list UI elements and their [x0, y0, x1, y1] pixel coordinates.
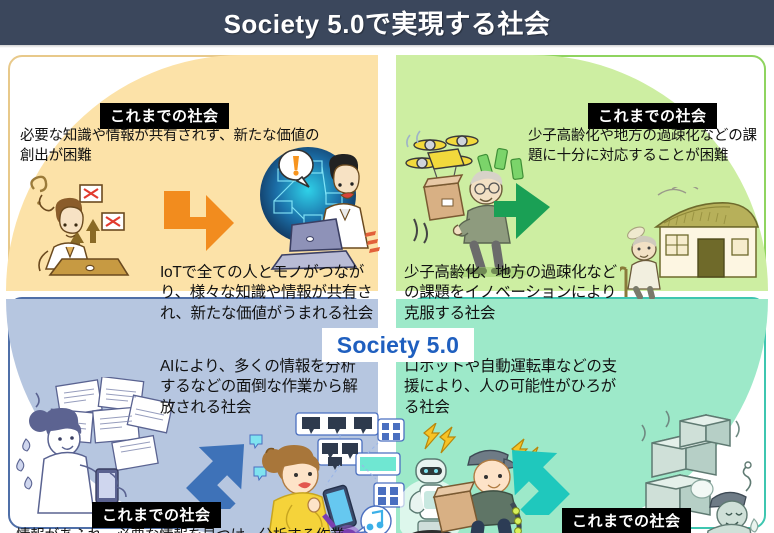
page-title: Society 5.0で実現する社会	[224, 4, 551, 41]
past-society-badge-top-left: これまでの社会	[100, 103, 229, 129]
transition-arrow-up-left-teal	[498, 439, 574, 515]
past-society-badge-bottom-right: これまでの社会	[562, 508, 691, 533]
woman-with-ai-assistant-smartphone-illustration: AI	[248, 409, 408, 533]
elderly-man-at-thatched-house-illustration	[620, 187, 762, 299]
past-society-badge-bottom-left: これまでの社会	[92, 502, 221, 528]
past-society-badge-top-right: これまでの社会	[588, 103, 717, 129]
overwhelmed-woman-with-documents-illustration	[14, 377, 184, 517]
page-title-bar: Society 5.0で実現する社会	[0, 0, 774, 45]
future-society-text-top-right: 少子高齢化、地方の過疎化などの課題をイノベーションにより克服する社会	[404, 263, 626, 324]
transition-arrow-up-right-blue	[182, 433, 258, 509]
transition-arrow-down-right-orange	[160, 177, 238, 255]
future-society-text-bottom-right: ロボットや自動運転車などの支援により、人の可能性がひろがる社会	[404, 357, 620, 418]
past-society-text-bottom-left: 情報があふれ、必要な情報を見つけ、分析する作業に困難や負担が生じる	[16, 527, 346, 533]
society-5-center-label: Society 5.0	[322, 328, 474, 362]
past-society-text-top-right: 少子高齢化や地方の過疎化などの課題に十分に対応することが困難	[528, 127, 764, 166]
past-society-text-top-left: 必要な知識や情報が共有されず、新たな価値の創出が困難	[20, 127, 320, 166]
infographic-root: Society 5.0で実現する社会	[0, 0, 774, 533]
diagram-stage: AI	[0, 47, 774, 533]
confused-man-at-laptop-illustration	[18, 173, 168, 281]
society-5-center-label-text: Society 5.0	[337, 332, 459, 359]
future-society-text-top-left: IoTで全ての人とモノがつながり、様々な知識や情報が共有され、新たな価値がうまれ…	[160, 263, 374, 324]
transition-arrow-down-left-green	[488, 179, 562, 253]
future-society-text-bottom-left: AIにより、多くの情報を分析するなどの面倒な作業から解放される社会	[160, 357, 366, 418]
